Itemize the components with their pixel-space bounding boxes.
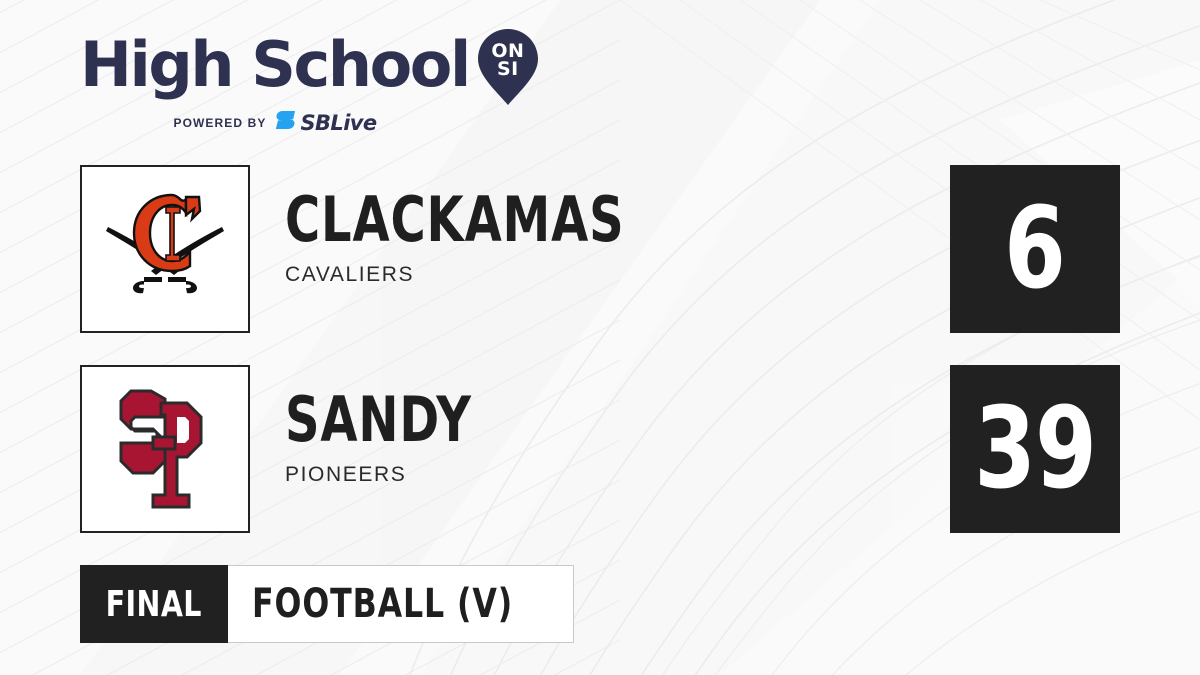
team-score-box: 39 [950,365,1120,533]
on-si-pin-icon: ON SI [477,28,539,106]
team-mascot: CAVALIERS [285,263,680,287]
team-row: SANDY PIONEERS 39 [0,365,1200,533]
sblive-bolt-icon [275,110,298,135]
page-title: High School [80,34,469,96]
sblive-wordmark: SBLive [300,111,376,135]
on-si-pin-label: ON SI [477,42,539,78]
team-logo-box [80,365,250,533]
team-score: 6 [1005,193,1066,305]
game-status-bar: FINAL FOOTBALL (V) [80,565,574,643]
team-text: CLACKAMAS CAVALIERS [285,189,680,287]
powered-by-row: POWERED BY SBLive [80,110,470,135]
team-score: 39 [974,393,1096,505]
sblive-logo: SBLive [275,110,376,135]
sandy-pioneers-logo [113,385,217,513]
team-logo-box [80,165,250,333]
team-mascot: PIONEERS [285,463,502,487]
team-row: CLACKAMAS CAVALIERS 6 [0,165,1200,333]
team-text: SANDY PIONEERS [285,389,502,487]
pin-line-si: SI [477,60,539,78]
sport-label: FOOTBALL (V) [252,581,513,627]
brand-lockup: High School ON SI [80,34,520,106]
team-score-box: 6 [950,165,1120,333]
status-badge-label: FINAL [106,584,202,625]
sport-label-box: FOOTBALL (V) [228,565,574,643]
team-name: SANDY [285,389,472,451]
team-name: CLACKAMAS [285,189,625,251]
brand-header: High School ON SI POWERED BY SBLive [80,34,520,144]
powered-by-label: POWERED BY [173,116,266,130]
status-badge: FINAL [80,565,228,643]
clackamas-cavaliers-logo [100,189,230,309]
